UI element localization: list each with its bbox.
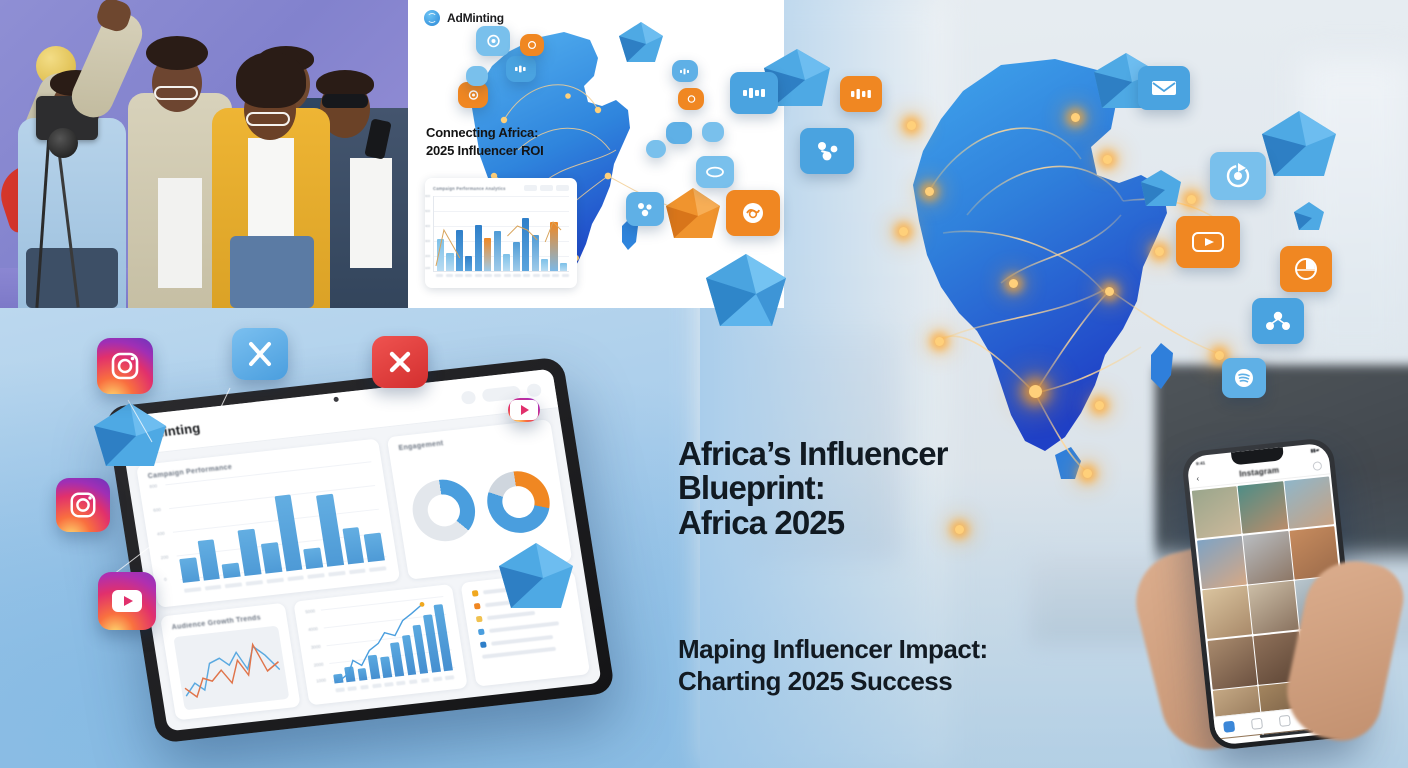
search-icon[interactable] xyxy=(461,390,477,404)
youtube-app-icon[interactable] xyxy=(508,398,540,422)
map-node xyxy=(1187,195,1196,204)
creators-group-photo xyxy=(0,0,408,308)
status-time: 9:41 xyxy=(1196,460,1206,466)
x-app-icon[interactable] xyxy=(232,328,288,380)
grid-photo[interactable] xyxy=(1207,636,1257,689)
map-node-primary xyxy=(1029,385,1042,398)
camera-bubble-icon xyxy=(520,34,544,56)
pie-chart-bubble-icon xyxy=(1280,246,1332,292)
camera-bubble-icon xyxy=(726,190,780,236)
grid-photo[interactable] xyxy=(1191,486,1241,539)
camera-bubble-icon xyxy=(476,26,510,56)
revenue-trajectory-panel: 50004000 30002000 1000 xyxy=(294,584,468,705)
message-bubble-icon xyxy=(672,60,698,82)
grid-photo[interactable] xyxy=(1238,481,1288,534)
map-node xyxy=(1105,287,1114,296)
mini-chart-plot: 600500 400300 200100 xyxy=(433,196,569,272)
gear-icon[interactable] xyxy=(1312,461,1322,471)
title-line3: Africa 2025 xyxy=(678,506,1058,540)
refresh-bubble-icon xyxy=(1210,152,1266,200)
search-icon[interactable] xyxy=(1251,718,1263,730)
grid-photo[interactable] xyxy=(1284,476,1334,529)
page-subtitle: Maping Influencer Impact: Charting 2025 … xyxy=(678,634,1098,697)
chat-bubble-icon xyxy=(730,72,778,114)
map-node xyxy=(1155,247,1164,256)
grid-photo[interactable] xyxy=(1202,586,1252,639)
message-bubble-icon xyxy=(466,66,488,86)
message-bubble-icon xyxy=(666,122,692,144)
polyhedron-shape-orange xyxy=(662,186,724,248)
map-node xyxy=(1083,469,1092,478)
polyhedron-shape xyxy=(1292,200,1326,234)
spotify-bubble-icon xyxy=(1222,358,1266,398)
map-node xyxy=(1009,279,1018,288)
map-node xyxy=(1103,155,1112,164)
title-line1: Africa’s Influencer xyxy=(678,437,1058,471)
legend-item xyxy=(482,644,576,658)
sunglasses xyxy=(322,94,368,108)
chat-bubble-icon xyxy=(840,76,882,112)
sparkline-chart xyxy=(173,626,289,711)
instagram-app-icon[interactable] xyxy=(56,478,110,532)
reels-icon[interactable] xyxy=(1279,715,1291,727)
poster-canvas: AdMinting xyxy=(0,0,1408,768)
title-line2: Blueprint: xyxy=(678,471,1058,505)
polyhedron-shape xyxy=(616,20,666,70)
engagement-donut-2 xyxy=(482,468,553,536)
map-node xyxy=(1071,113,1080,122)
youtube-bubble-icon xyxy=(1176,216,1240,268)
message-bubble-icon xyxy=(506,56,536,82)
youtube-app-icon[interactable] xyxy=(98,572,156,630)
message-bubble-icon xyxy=(696,156,734,188)
polyhedron-shape xyxy=(700,250,792,342)
share-users-bubble-icon xyxy=(1252,298,1304,344)
map-node xyxy=(935,337,944,346)
home-icon[interactable] xyxy=(1223,721,1235,733)
message-bubble-icon xyxy=(702,122,724,142)
mail-bubble-icon xyxy=(1138,66,1190,110)
map-node xyxy=(1095,401,1104,410)
camera-bubble-icon xyxy=(678,88,704,110)
settings-icon[interactable] xyxy=(526,383,542,397)
mini-chart-title: Campaign Performance Analytics xyxy=(433,186,506,191)
mini-chart-x-labels xyxy=(433,274,569,277)
grid-photo[interactable] xyxy=(1248,581,1298,634)
mini-chart-trendline xyxy=(434,196,569,272)
map-node xyxy=(907,121,916,130)
instagram-app-icon[interactable] xyxy=(97,338,153,394)
polyhedron-shape xyxy=(1258,108,1340,190)
card-title-line1: Connecting Africa: xyxy=(426,124,544,142)
grid-photo[interactable] xyxy=(1243,531,1293,584)
polyhedron-shape xyxy=(495,540,577,622)
share-users-bubble-icon xyxy=(800,128,854,174)
card-title-line2: 2025 Influencer ROI xyxy=(426,142,544,160)
polyhedron-shape xyxy=(1138,168,1184,214)
mini-analytics-chart: Campaign Performance Analytics 600500 40… xyxy=(425,178,577,288)
share-users-bubble-icon xyxy=(626,192,664,226)
subtitle-line2: Charting 2025 Success xyxy=(678,666,1098,698)
map-node xyxy=(1215,351,1224,360)
engagement-donut-1 xyxy=(408,476,479,544)
subtitle-line1: Maping Influencer Impact: xyxy=(678,634,1098,666)
status-icons: ▮▮▰ xyxy=(1310,447,1319,454)
chevron-left-icon[interactable]: ‹ xyxy=(1196,474,1200,483)
app-name: Instagram xyxy=(1239,466,1280,479)
audience-growth-panel: Audience Growth Trends xyxy=(160,603,301,721)
card-title: Connecting Africa: 2025 Influencer ROI xyxy=(426,124,544,159)
map-node xyxy=(925,187,934,196)
grid-photo[interactable] xyxy=(1196,536,1246,589)
mini-chart-controls[interactable] xyxy=(524,185,569,191)
message-bubble-icon xyxy=(646,140,666,158)
map-node xyxy=(899,227,908,236)
page-title: Africa’s Influencer Blueprint: Africa 20… xyxy=(678,437,1058,540)
close-app-icon[interactable] xyxy=(372,336,428,388)
